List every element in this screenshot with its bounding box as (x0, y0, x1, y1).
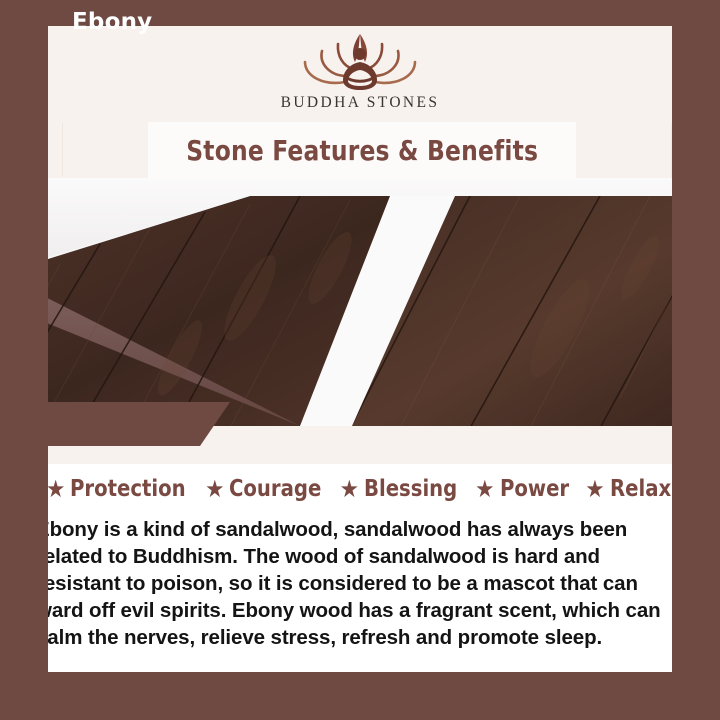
star-icon: ★ (585, 477, 604, 501)
feature-label: Relax (610, 476, 671, 502)
feature-label: Protection (70, 476, 186, 502)
star-icon: ★ (475, 477, 494, 501)
feature-label: Blessing (364, 476, 457, 502)
feature-label: Courage (229, 476, 321, 502)
brand-header: BUDDHA STONES (0, 26, 720, 123)
ebony-wood-planks-photo (0, 178, 720, 426)
feature-item: ★ Blessing (340, 476, 463, 502)
star-icon: ★ (205, 477, 224, 501)
feature-item: ★ Power (475, 476, 572, 502)
star-icon: ★ (46, 477, 65, 501)
description-text: Ebony is a kind of sandalwood, sandalwoo… (36, 516, 684, 651)
infographic-page: BUDDHA STONES Stone Features & Benefits (0, 0, 720, 720)
divider-strip (0, 446, 720, 464)
page-title: Stone Features & Benefits (186, 134, 538, 167)
feature-item: ★ Protection (46, 476, 192, 502)
feature-item: ★ Relax (585, 476, 674, 502)
feature-label: Power (500, 476, 569, 502)
title-panel: Stone Features & Benefits (148, 122, 576, 179)
material-label: Ebony (72, 9, 152, 35)
frame-bottom (0, 672, 720, 720)
feature-list: ★ Protection ★ Courage ★ Blessing ★ Powe… (0, 464, 720, 502)
star-icon: ★ (340, 477, 359, 501)
brand-wordmark: BUDDHA STONES (281, 94, 440, 112)
frame-left (0, 0, 48, 720)
frame-right (672, 0, 720, 720)
lotus-meditation-figure-icon (275, 24, 445, 96)
feature-item: ★ Courage (205, 476, 327, 502)
